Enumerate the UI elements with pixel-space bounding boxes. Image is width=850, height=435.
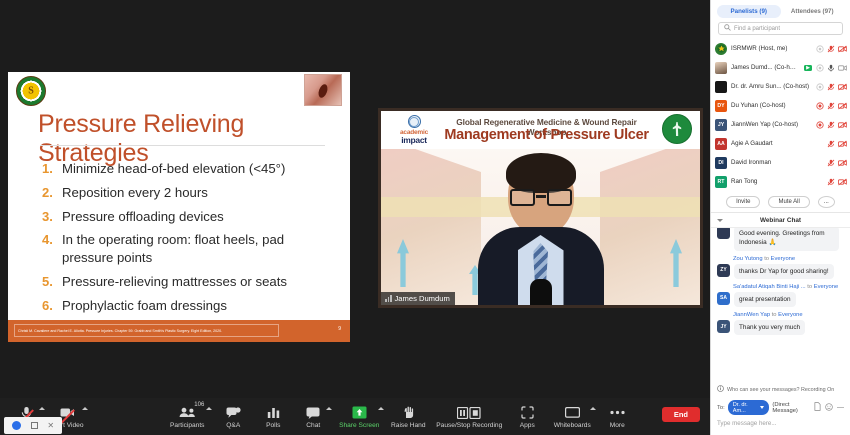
qa-label: Q&A: [226, 422, 240, 429]
logo-letter: S: [28, 86, 34, 97]
raise-hand-icon: [403, 405, 414, 421]
mic-muted-icon[interactable]: [827, 45, 835, 53]
recipient-name: Everyone: [771, 256, 796, 262]
participant-row[interactable]: ISRMWR (Host, me): [715, 39, 846, 58]
un-emblem-icon: [408, 115, 421, 128]
mic-muted-icon[interactable]: [827, 159, 835, 167]
speaker-hair: [506, 153, 576, 193]
chat-message: Zou Yutong to Everyone ZY thanks Dr Yap …: [717, 256, 844, 279]
slide-bullet: Pressure offloading devices: [42, 208, 337, 226]
more-options-icon[interactable]: —: [837, 404, 844, 411]
slide-citation: Christi M. Cavaliere and Rachel E. Aliot…: [14, 324, 279, 337]
speaker-nameplate: James Dumdum: [381, 292, 455, 305]
mic-muted-icon[interactable]: [827, 140, 835, 148]
participants-chat-panel: Panelists (9) Attendees (97) Find a part…: [710, 0, 850, 435]
un-academic-impact-logo: academic impact: [393, 115, 435, 145]
sender-name: Zou Yutong: [733, 256, 763, 262]
avatar: RT: [715, 176, 727, 188]
participant-name: Agie A Gaudart: [731, 140, 823, 147]
avatar: JY: [717, 320, 730, 333]
workshop-title: Management of Pressure Ulcer: [439, 127, 654, 143]
avatar: [715, 62, 727, 74]
participant-icons: [816, 102, 846, 110]
chat-message-text: great presentation: [734, 292, 796, 307]
chat-toolbar-icons: —: [814, 402, 844, 413]
avatar: ZY: [717, 264, 730, 277]
polls-button[interactable]: Polls: [253, 398, 293, 435]
camera-off-icon[interactable]: [838, 159, 846, 167]
video-on-badge-icon: ▶: [804, 65, 812, 71]
avatar: JY: [715, 119, 727, 131]
speaker-figure: [478, 155, 604, 305]
participant-more-button[interactable]: ...: [818, 196, 835, 208]
host-red-icon: [816, 102, 824, 110]
speaker-video-tile[interactable]: academic impact Global Regenerative Medi…: [378, 108, 703, 308]
apps-label: Apps: [520, 422, 535, 429]
chat-button[interactable]: Chat: [293, 398, 333, 435]
shared-slide[interactable]: S Pressure Relieving Strategies Minimize…: [8, 72, 350, 342]
glasses-icon: [510, 189, 572, 206]
participant-icons: [827, 140, 846, 148]
chat-header[interactable]: Webinar Chat: [711, 213, 850, 228]
camera-off-icon[interactable]: [838, 121, 846, 129]
participants-icon: [179, 405, 196, 421]
chat-label: Chat: [306, 422, 320, 429]
polls-label: Polls: [266, 422, 280, 429]
mute-all-button[interactable]: Mute All: [768, 196, 809, 208]
chat-message-row: ZY thanks Dr Yap for good sharing!: [717, 264, 844, 279]
participant-icons: [816, 64, 846, 72]
chat-recipient-row: To: Dr. dr. Am... (Direct Message) —: [711, 397, 850, 417]
recipient-name: Everyone: [778, 312, 803, 318]
pause-stop-recording-button[interactable]: Pause/Stop Recording: [431, 398, 507, 435]
direct-message-label: (Direct Message): [772, 402, 811, 414]
slide-page-number: 9: [338, 326, 341, 332]
audio-level-icon: [385, 295, 392, 302]
participant-name: James Dumd... (Co-host): [731, 64, 798, 71]
chevron-up-icon[interactable]: [590, 407, 596, 410]
participant-row[interactable]: AA Agie A Gaudart: [715, 134, 846, 153]
chat-message-text: thanks Dr Yap for good sharing!: [734, 264, 834, 279]
chat-message-sender: Zou Yutong to Everyone: [717, 256, 844, 262]
camera-off-icon[interactable]: [838, 45, 846, 53]
chat-message-row: JY Thank you very much: [717, 320, 844, 335]
search-icon: [724, 24, 731, 33]
sender-name: Sa'adatul Atiqah Binti Haji ...: [733, 284, 806, 290]
participants-button[interactable]: Participants 106: [161, 398, 213, 435]
audio-device-popup[interactable]: ✕: [4, 417, 62, 434]
chevron-up-icon[interactable]: [206, 407, 212, 410]
chat-message: JiannWen Yap to Everyone JY Thank you ve…: [717, 312, 844, 335]
whiteboards-label: Whiteboards: [554, 422, 591, 429]
participants-count: 106: [194, 402, 204, 408]
chevron-up-icon[interactable]: [82, 407, 88, 410]
participant-name: JiannWen Yap (Co-host): [731, 121, 812, 128]
participant-icons: [816, 83, 846, 91]
camera-muted-icon: [60, 405, 75, 421]
avatar: [715, 43, 727, 55]
search-placeholder: Find a participant: [734, 26, 780, 32]
recipient-name: Everyone: [814, 284, 839, 290]
participant-row[interactable]: James Dumd... (Co-host) ▶: [715, 58, 846, 77]
chat-message-input[interactable]: Type message here...: [711, 417, 850, 435]
chat-privacy-notice[interactable]: Who can see your messages? Recording On: [711, 383, 850, 397]
chat-message-sender: Sa'adatul Atiqah Binti Haji ... to Every…: [717, 284, 844, 290]
mic-muted-icon[interactable]: [827, 83, 835, 91]
recipient-label: to Everyone: [807, 284, 838, 290]
invite-button[interactable]: Invite: [726, 196, 760, 208]
apps-icon: [521, 405, 534, 421]
toolbar-center-group: Participants 106 Q&A Polls Chat: [161, 398, 637, 435]
search-container: Find a participant: [711, 19, 850, 39]
chat-notice-text: Who can see your messages? Recording On: [727, 387, 834, 393]
chat-icon: [306, 405, 320, 421]
chevron-up-icon[interactable]: [39, 407, 45, 410]
pause-stop-recording-label: Pause/Stop Recording: [436, 422, 502, 429]
avatar: AA: [715, 138, 727, 150]
host-icon: [816, 83, 824, 91]
camera-off-icon[interactable]: [838, 102, 846, 110]
info-icon: [717, 385, 724, 394]
slide-bullet: In the operating room: float heels, pad …: [42, 231, 337, 267]
glasses-bridge: [536, 195, 546, 198]
audio-indicator-icon: [12, 421, 21, 430]
slide-bullet: Pressure-relieving mattresses or seats: [42, 273, 337, 291]
emoji-icon[interactable]: [825, 403, 833, 413]
participant-name: ISRMWR (Host, me): [731, 45, 812, 52]
share-screen-label: Share Screen: [339, 422, 379, 429]
participant-name: Dr. dr. Amru Sun... (Co-host): [731, 83, 812, 90]
panel-tabs: Panelists (9) Attendees (97): [711, 0, 850, 19]
participant-icons: [816, 45, 846, 53]
organization-logo-icon: [662, 114, 692, 144]
meeting-toolbar: Unmute Start Video Participants 106 Q&: [0, 398, 710, 435]
participant-icons: [827, 159, 846, 167]
chat-message-sender: JiannWen Yap to Everyone: [717, 312, 844, 318]
chevron-up-icon[interactable]: [378, 407, 384, 410]
qa-icon: [226, 405, 241, 421]
polls-icon: [267, 405, 280, 421]
avatar: [717, 228, 730, 239]
chat-input-placeholder: Type message here...: [717, 420, 777, 427]
desk-microphone-icon: [530, 279, 552, 305]
institution-logo-icon: S: [16, 76, 46, 106]
chat-message-text: Thank you very much: [734, 320, 805, 335]
chat-recipient-name: Dr. dr. Am...: [733, 402, 758, 414]
participant-name: Ran Tong: [731, 178, 823, 185]
mic-on-icon[interactable]: [827, 64, 835, 72]
whiteboards-button[interactable]: Whiteboards: [547, 398, 597, 435]
slide-bullet: Prophylactic foam dressings: [42, 297, 337, 315]
chat-title: Webinar Chat: [760, 217, 801, 224]
end-meeting-button[interactable]: End: [662, 407, 700, 422]
glasses-lens-left: [510, 189, 535, 206]
slide-bullet: Reposition every 2 hours: [42, 184, 337, 202]
avatar: DI: [715, 157, 727, 169]
chevron-down-icon[interactable]: [717, 219, 723, 222]
more-button[interactable]: More: [597, 398, 637, 435]
more-label: More: [610, 422, 625, 429]
pause-stop-recording-icon: [457, 405, 481, 421]
share-screen-button[interactable]: Share Screen: [333, 398, 385, 435]
mic-muted-icon[interactable]: [827, 178, 835, 186]
raise-hand-button[interactable]: Raise Hand: [385, 398, 431, 435]
chat-message-row: SA great presentation: [717, 292, 844, 307]
participant-row[interactable]: RT Ran Tong: [715, 172, 846, 191]
qa-button[interactable]: Q&A: [213, 398, 253, 435]
tab-panelists[interactable]: Panelists (9): [717, 5, 781, 18]
apps-button[interactable]: Apps: [507, 398, 547, 435]
slide-bullet-list: Minimize head-of-bed elevation (<45°) Re…: [42, 160, 337, 321]
tab-attendees[interactable]: Attendees (97): [781, 5, 845, 18]
chat-recipient-select[interactable]: Dr. dr. Am...: [728, 400, 770, 415]
participant-row[interactable]: Dr. dr. Amru Sun... (Co-host): [715, 77, 846, 96]
wound-mark: [317, 83, 329, 99]
speaker-name: James Dumdum: [395, 292, 450, 305]
participant-name: David Ironman: [731, 159, 823, 166]
chevron-down-icon: [760, 406, 764, 409]
participant-icons: [827, 178, 846, 186]
chat-message-row: Good evening. Greetings from Indonesia 🙏: [717, 228, 844, 251]
participants-label: Participants: [170, 422, 204, 429]
camera-off-icon[interactable]: [838, 178, 846, 186]
close-icon[interactable]: ✕: [47, 422, 54, 430]
chat-message: Sa'adatul Atiqah Binti Haji ... to Every…: [717, 284, 844, 307]
slide-footer: Christi M. Cavaliere and Rachel E. Aliot…: [8, 320, 350, 342]
chat-messages[interactable]: Good evening. Greetings from Indonesia 🙏…: [711, 228, 850, 383]
clinical-photo-thumbnail: [304, 74, 342, 106]
camera-off-icon[interactable]: [838, 83, 846, 91]
file-attach-icon[interactable]: [814, 402, 821, 413]
slide-bullet: Minimize head-of-bed elevation (<45°): [42, 160, 337, 178]
popup-square-icon[interactable]: [31, 422, 38, 429]
search-input[interactable]: Find a participant: [718, 22, 843, 35]
more-icon: [610, 405, 625, 421]
chat-message-text: Good evening. Greetings from Indonesia 🙏: [734, 228, 839, 251]
avatar: DY: [715, 100, 727, 112]
host-icon: [816, 45, 824, 53]
participant-actions: Invite Mute All ...: [711, 191, 850, 213]
participant-name: Du Yuhan (Co-host): [731, 102, 812, 109]
slide-divider: [40, 145, 325, 146]
camera-off-icon[interactable]: [838, 140, 846, 148]
virtual-background-header: academic impact Global Regenerative Medi…: [381, 111, 700, 149]
participant-row[interactable]: DI David Ironman: [715, 153, 846, 172]
chat-message: Good evening. Greetings from Indonesia 🙏: [717, 228, 844, 251]
recipient-label: to Everyone: [764, 256, 795, 262]
participant-icons: [816, 121, 846, 129]
avatar: [715, 81, 727, 93]
meeting-stage: S Pressure Relieving Strategies Minimize…: [0, 0, 710, 398]
raise-hand-label: Raise Hand: [391, 422, 425, 429]
avatar: SA: [717, 292, 730, 305]
academic-impact-line2: impact: [393, 136, 435, 145]
mic-muted-icon[interactable]: [827, 121, 835, 129]
share-screen-icon: [352, 405, 367, 421]
glasses-lens-right: [547, 189, 572, 206]
to-label: To:: [717, 405, 725, 411]
camera-off-icon[interactable]: [838, 64, 846, 72]
mic-muted-icon[interactable]: [827, 102, 835, 110]
chevron-up-icon[interactable]: [326, 407, 332, 410]
participant-row[interactable]: DY Du Yuhan (Co-host): [715, 96, 846, 115]
sender-name: JiannWen Yap: [733, 312, 770, 318]
participants-list: ISRMWR (Host, me) James Dumd... (Co-host…: [711, 39, 850, 191]
host-icon: [816, 64, 824, 72]
whiteboard-icon: [565, 405, 580, 421]
recipient-label: to Everyone: [772, 312, 803, 318]
host-red-icon: [816, 121, 824, 129]
participant-row[interactable]: JY JiannWen Yap (Co-host): [715, 115, 846, 134]
